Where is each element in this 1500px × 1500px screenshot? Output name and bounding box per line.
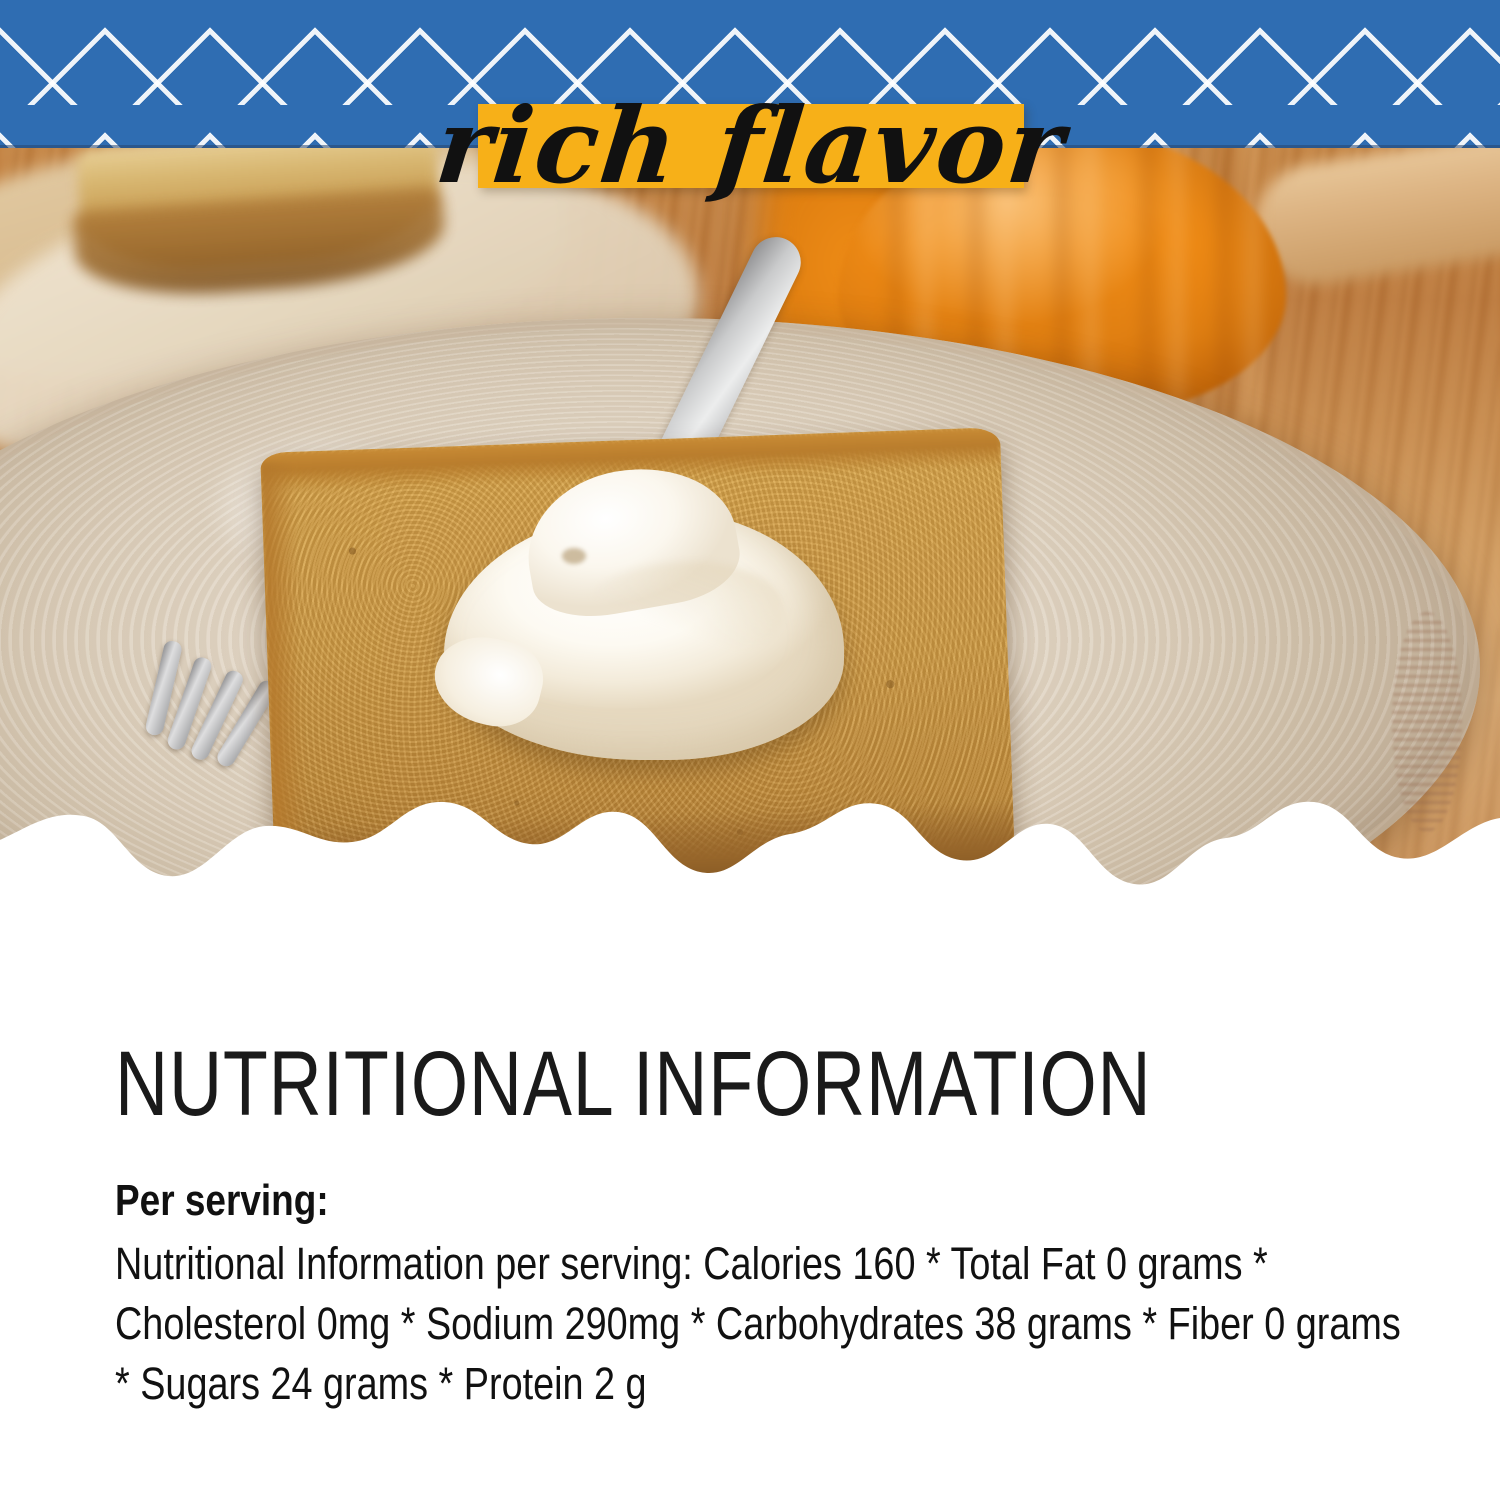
product-info-card: rich flavor NUTRITIONAL INFORMATION Per … bbox=[0, 0, 1500, 1500]
scalloped-wave-divider bbox=[0, 780, 1500, 1000]
per-serving-label: Per serving: bbox=[115, 1178, 1199, 1224]
nutrition-heading: NUTRITIONAL INFORMATION bbox=[115, 1038, 1147, 1130]
cream-dimple bbox=[562, 548, 586, 564]
pumpkin-rib bbox=[1142, 128, 1184, 418]
rich-flavor-label: rich flavor bbox=[469, 56, 1034, 236]
nutrition-section: NUTRITIONAL INFORMATION Per serving: Nut… bbox=[115, 1038, 1405, 1414]
nutrition-facts-text: Nutritional Information per serving: Cal… bbox=[115, 1234, 1409, 1414]
whipped-cream-dollop bbox=[434, 470, 854, 770]
pumpkin-rib bbox=[1218, 128, 1260, 418]
